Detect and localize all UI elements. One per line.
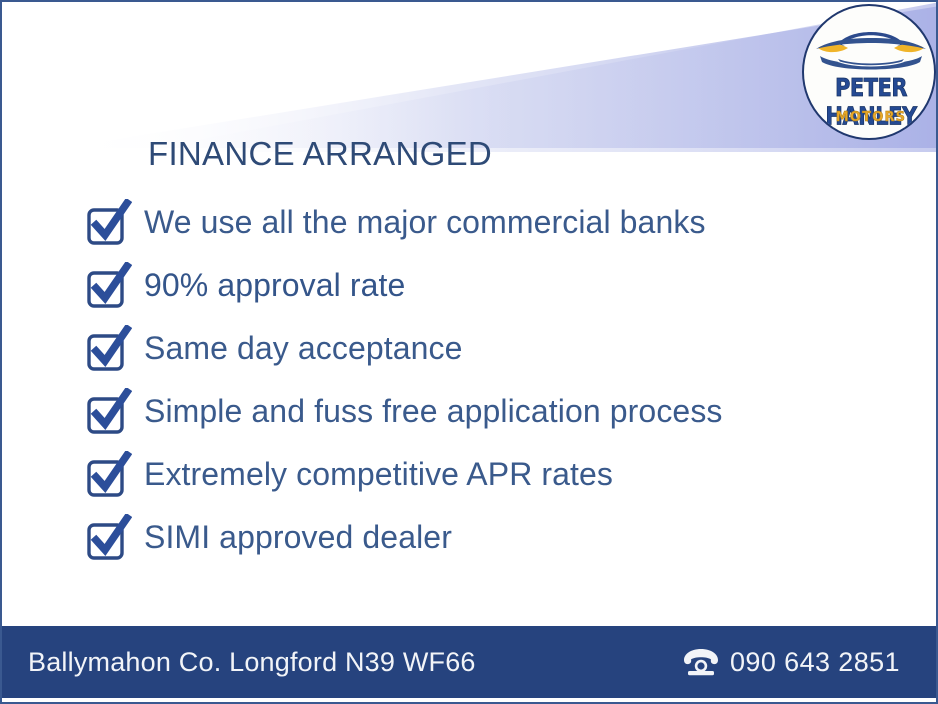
telephone-icon [682, 647, 720, 677]
list-item: Simple and fuss free application process [84, 380, 904, 443]
list-item-label: Simple and fuss free application process [144, 393, 723, 430]
list-item-label: SIMI approved dealer [144, 519, 452, 556]
list-item: SIMI approved dealer [84, 506, 904, 569]
benefits-checklist: We use all the major commercial banks 90… [84, 191, 904, 569]
address-text: Ballymahon Co. Longford N39 WF66 [28, 647, 476, 678]
checkbox-checked-icon [84, 262, 132, 310]
list-item-label: We use all the major commercial banks [144, 204, 706, 241]
list-item: Same day acceptance [84, 317, 904, 380]
list-item: Extremely competitive APR rates [84, 443, 904, 506]
list-item: 90% approval rate [84, 254, 904, 317]
advert-canvas: PETER HANLEY MOTORS FINANCE ARRANGED We … [0, 0, 938, 704]
phone-number-text: 090 643 2851 [730, 647, 900, 678]
phone-contact[interactable]: 090 643 2851 [682, 647, 900, 678]
logo-circle-frame: PETER HANLEY MOTORS [802, 4, 936, 140]
logo-company-subtitle: MOTORS [804, 110, 936, 125]
checkbox-checked-icon [84, 325, 132, 373]
checkbox-checked-icon [84, 514, 132, 562]
list-item-label: Extremely competitive APR rates [144, 456, 613, 493]
contact-footer-bar: Ballymahon Co. Longford N39 WF66 090 643… [0, 626, 938, 698]
list-item: We use all the major commercial banks [84, 191, 904, 254]
company-logo: PETER HANLEY MOTORS [802, 4, 936, 140]
list-item-label: 90% approval rate [144, 267, 405, 304]
list-item-label: Same day acceptance [144, 330, 463, 367]
page-title: FINANCE ARRANGED [148, 135, 492, 173]
car-front-icon [812, 18, 930, 80]
checkbox-checked-icon [84, 388, 132, 436]
checkbox-checked-icon [84, 199, 132, 247]
checkbox-checked-icon [84, 451, 132, 499]
